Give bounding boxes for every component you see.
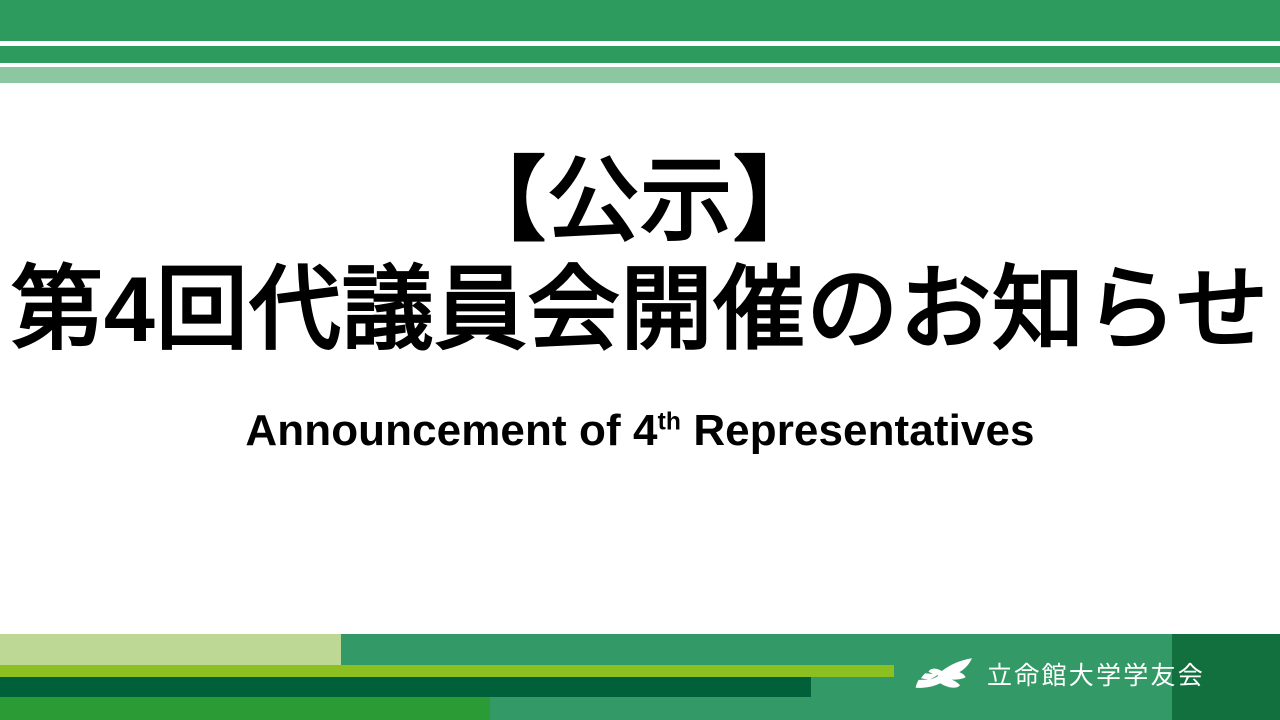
organization-name: 立命館大学学友会 [987,656,1205,692]
slide-canvas: 【公示】 第4回代議員会開催のお知らせ Announcement of 4th … [0,0,1280,720]
header-band-primary [0,0,1280,41]
header-decoration [0,0,1280,84]
footer-block-light-yellow-green [0,634,341,665]
subtitle-ordinal-suffix: th [658,408,681,435]
header-band-accent [0,67,1280,83]
organization-logo: 立命館大学学友会 [915,652,1205,696]
subtitle-prefix: Announcement of 4 [245,406,657,455]
subtitle-remainder: Representatives [681,406,1035,455]
page-title-line-2: 第4回代議員会開催のお知らせ [0,259,1280,362]
ritsumeikan-arrow-mark-icon [915,657,973,691]
page-subtitle: Announcement of 4th Representatives [0,406,1280,456]
footer-stripe-yellow-green [0,665,894,677]
footer-stripe-dark-green [0,677,811,697]
page-title-line-1: 【公示】 [0,150,1280,253]
footer-block-bright-green [0,697,490,720]
title-block: 【公示】 第4回代議員会開催のお知らせ Announcement of 4th … [0,150,1280,456]
header-band-secondary [0,46,1280,63]
